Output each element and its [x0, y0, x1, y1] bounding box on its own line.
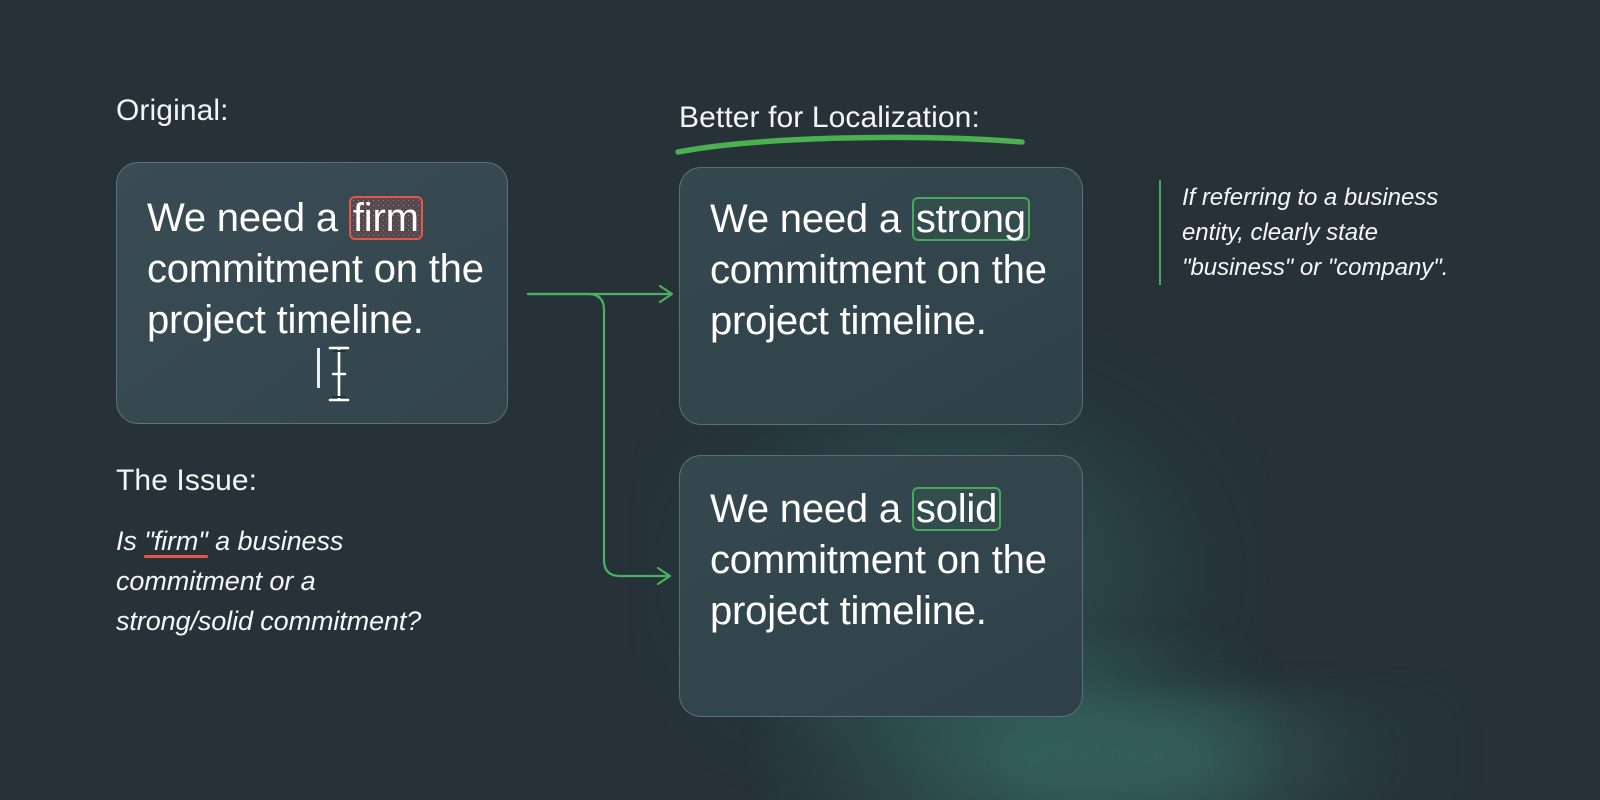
strong-suffix: commitment on the project timeline. — [710, 248, 1047, 343]
heading-better-for-localization: Better for Localization: — [679, 101, 980, 135]
card-strong-content: We need a strong commitment on the proje… — [710, 194, 1066, 347]
issue-term-firm: "firm" — [144, 526, 208, 556]
arrow-right-icon-bottom — [658, 568, 670, 584]
issue-lead: Is — [116, 526, 144, 556]
solid-suffix: commitment on the project timeline. — [710, 538, 1047, 633]
annotation-note: If referring to a business entity, clear… — [1159, 180, 1489, 285]
i-beam-cursor — [326, 344, 352, 404]
card-original-content: We need a firm commitment on the project… — [147, 193, 491, 346]
original-prefix: We need a — [147, 196, 349, 240]
issue-body-text: Is "firm" a business commitment or a str… — [116, 521, 436, 641]
text-caret — [317, 348, 320, 388]
heading-original: Original: — [116, 94, 229, 128]
highlight-strong[interactable]: strong — [912, 197, 1030, 241]
card-original-text[interactable]: We need a firm commitment on the project… — [116, 162, 508, 424]
card-solid-content: We need a solid commitment on the projec… — [710, 484, 1066, 637]
strong-prefix: We need a — [710, 197, 912, 241]
connector-arrows — [500, 260, 700, 620]
highlight-solid[interactable]: solid — [912, 487, 1001, 531]
highlight-firm[interactable]: firm — [349, 196, 423, 240]
card-suggestion-solid[interactable]: We need a solid commitment on the projec… — [679, 455, 1083, 717]
card-suggestion-strong[interactable]: We need a strong commitment on the proje… — [679, 167, 1083, 425]
arrow-right-icon-top — [660, 286, 672, 302]
solid-prefix: We need a — [710, 487, 912, 531]
heading-the-issue: The Issue: — [116, 464, 257, 498]
original-suffix: commitment on the project timeline. — [147, 247, 484, 342]
diagram-stage: Original: We need a firm commitment on t… — [0, 0, 1600, 800]
